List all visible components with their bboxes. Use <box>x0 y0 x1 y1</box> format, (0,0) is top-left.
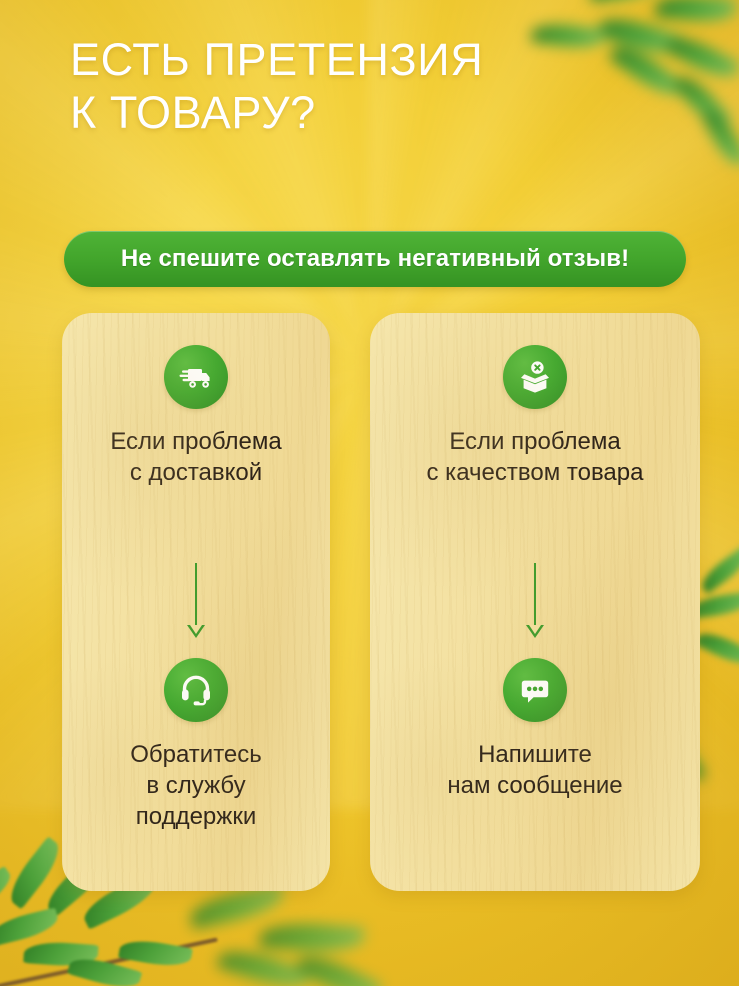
warning-banner: Не спешите оставлять негативный отзыв! <box>64 231 686 287</box>
quality-action-line-1: Напишите <box>370 739 700 770</box>
poster-canvas: ЕСТЬ ПРЕТЕНЗИЯ К ТОВАРУ? Не спешите оста… <box>0 0 739 986</box>
delivery-problem-caption: Если проблема с доставкой <box>62 426 330 488</box>
warning-banner-text: Не спешите оставлять негативный отзыв! <box>121 245 629 273</box>
card-quality: Если проблема с качеством товара <box>370 313 700 891</box>
delivery-action-caption: Обратитесь в службу поддержки <box>62 739 330 832</box>
quality-problem-line-1: Если проблема <box>370 426 700 457</box>
delivery-down-arrow-icon <box>186 563 206 641</box>
delivery-problem-block: Если проблема с доставкой <box>62 345 330 488</box>
delivery-action-block: Обратитесь в службу поддержки <box>62 658 330 832</box>
quality-action-block: Напишите нам сообщение <box>370 658 700 801</box>
delivery-action-line-3: поддержки <box>62 801 330 832</box>
delivery-action-line-1: Обратитесь <box>62 739 330 770</box>
cards-row: Если проблема с доставкой <box>0 313 739 891</box>
delivery-truck-icon <box>164 345 228 409</box>
page-title-line-2: К ТОВАРУ? <box>70 86 590 139</box>
quality-problem-caption: Если проблема с качеством товара <box>370 426 700 488</box>
quality-down-arrow-icon <box>525 563 545 641</box>
chat-message-icon <box>503 658 567 722</box>
quality-problem-block: Если проблема с качеством товара <box>370 345 700 488</box>
card-delivery: Если проблема с доставкой <box>62 313 330 891</box>
delivery-action-line-2: в службу <box>62 770 330 801</box>
damaged-box-icon <box>503 345 567 409</box>
quality-action-caption: Напишите нам сообщение <box>370 739 700 801</box>
page-title: ЕСТЬ ПРЕТЕНЗИЯ К ТОВАРУ? <box>70 33 590 139</box>
delivery-problem-line-1: Если проблема <box>62 426 330 457</box>
bottom-left-leaves-icon <box>0 878 290 986</box>
headset-support-icon <box>164 658 228 722</box>
quality-action-line-2: нам сообщение <box>370 770 700 801</box>
page-title-line-1: ЕСТЬ ПРЕТЕНЗИЯ <box>70 33 590 86</box>
delivery-problem-line-2: с доставкой <box>62 457 330 488</box>
quality-problem-line-2: с качеством товара <box>370 457 700 488</box>
